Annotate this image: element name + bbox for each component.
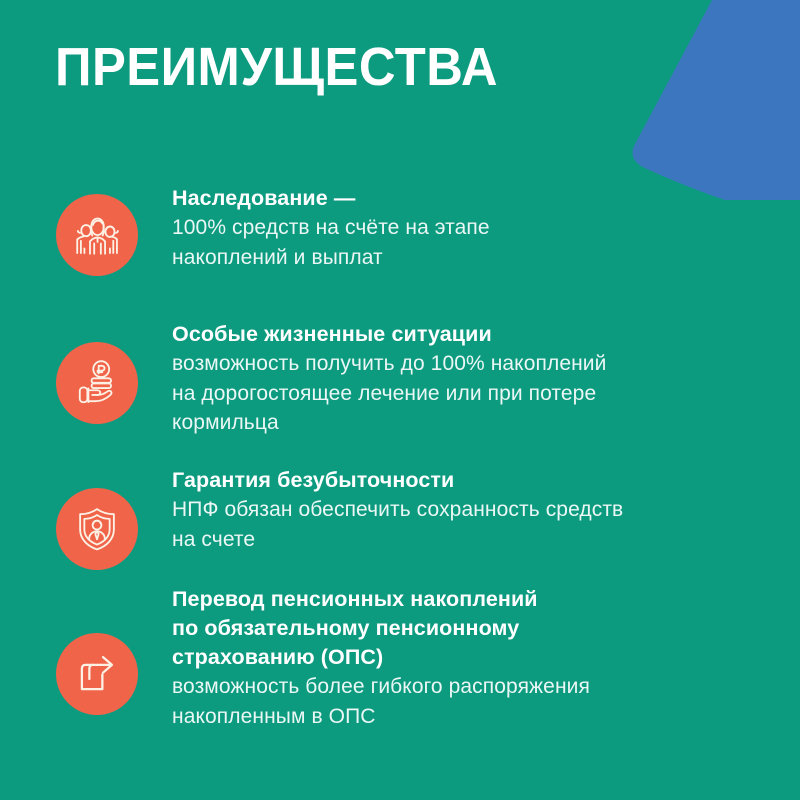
- benefit-heading: Гарантия безубыточности: [172, 466, 772, 495]
- benefit-text: Особые жизненные ситуации возможность по…: [172, 320, 772, 438]
- hand-holding-ruble-coins-icon: [70, 356, 124, 410]
- benefit-body-line: возможность более гибкого распоряжения: [172, 672, 772, 702]
- benefit-icon-badge: [56, 194, 138, 276]
- benefit-text: Перевод пенсионных накоплений по обязате…: [172, 585, 772, 731]
- benefit-body-line: НПФ обязан обеспечить сохранность средст…: [172, 495, 772, 525]
- page-title: ПРЕИМУЩЕСТВА: [55, 38, 498, 96]
- benefit-body-line: кормильца: [172, 408, 772, 438]
- benefit-heading: Особые жизненные ситуации: [172, 320, 772, 349]
- benefit-body-line: накоплений и выплат: [172, 243, 772, 273]
- benefit-heading: страхованию (ОПС): [172, 643, 772, 672]
- benefit-text: Гарантия безубыточности НПФ обязан обесп…: [172, 466, 772, 554]
- slide-canvas: ПРЕИМУЩЕСТВА: [0, 0, 800, 800]
- benefit-heading: Наследование —: [172, 184, 772, 213]
- benefit-heading: по обязательному пенсионному: [172, 614, 772, 643]
- benefit-body-line: на счете: [172, 525, 772, 555]
- benefit-body-line: 100% средств на счёте на этапе: [172, 213, 772, 243]
- shield-person-icon: [70, 502, 124, 556]
- benefit-icon-badge: [56, 488, 138, 570]
- benefit-text: Наследование — 100% средств на счёте на …: [172, 184, 772, 272]
- benefit-body-line: накопленным в ОПС: [172, 702, 772, 732]
- benefit-body-line: на дорогостоящее лечение или при потере: [172, 379, 772, 409]
- benefit-body-line: возможность получить до 100% накоплений: [172, 349, 772, 379]
- export-arrow-icon: [71, 648, 123, 700]
- benefit-icon-badge: [56, 633, 138, 715]
- benefit-icon-badge: [56, 342, 138, 424]
- blue-corner-polygon-icon: [600, 0, 800, 200]
- benefit-heading: Перевод пенсионных накоплений: [172, 585, 772, 614]
- family-group-icon: [69, 207, 125, 263]
